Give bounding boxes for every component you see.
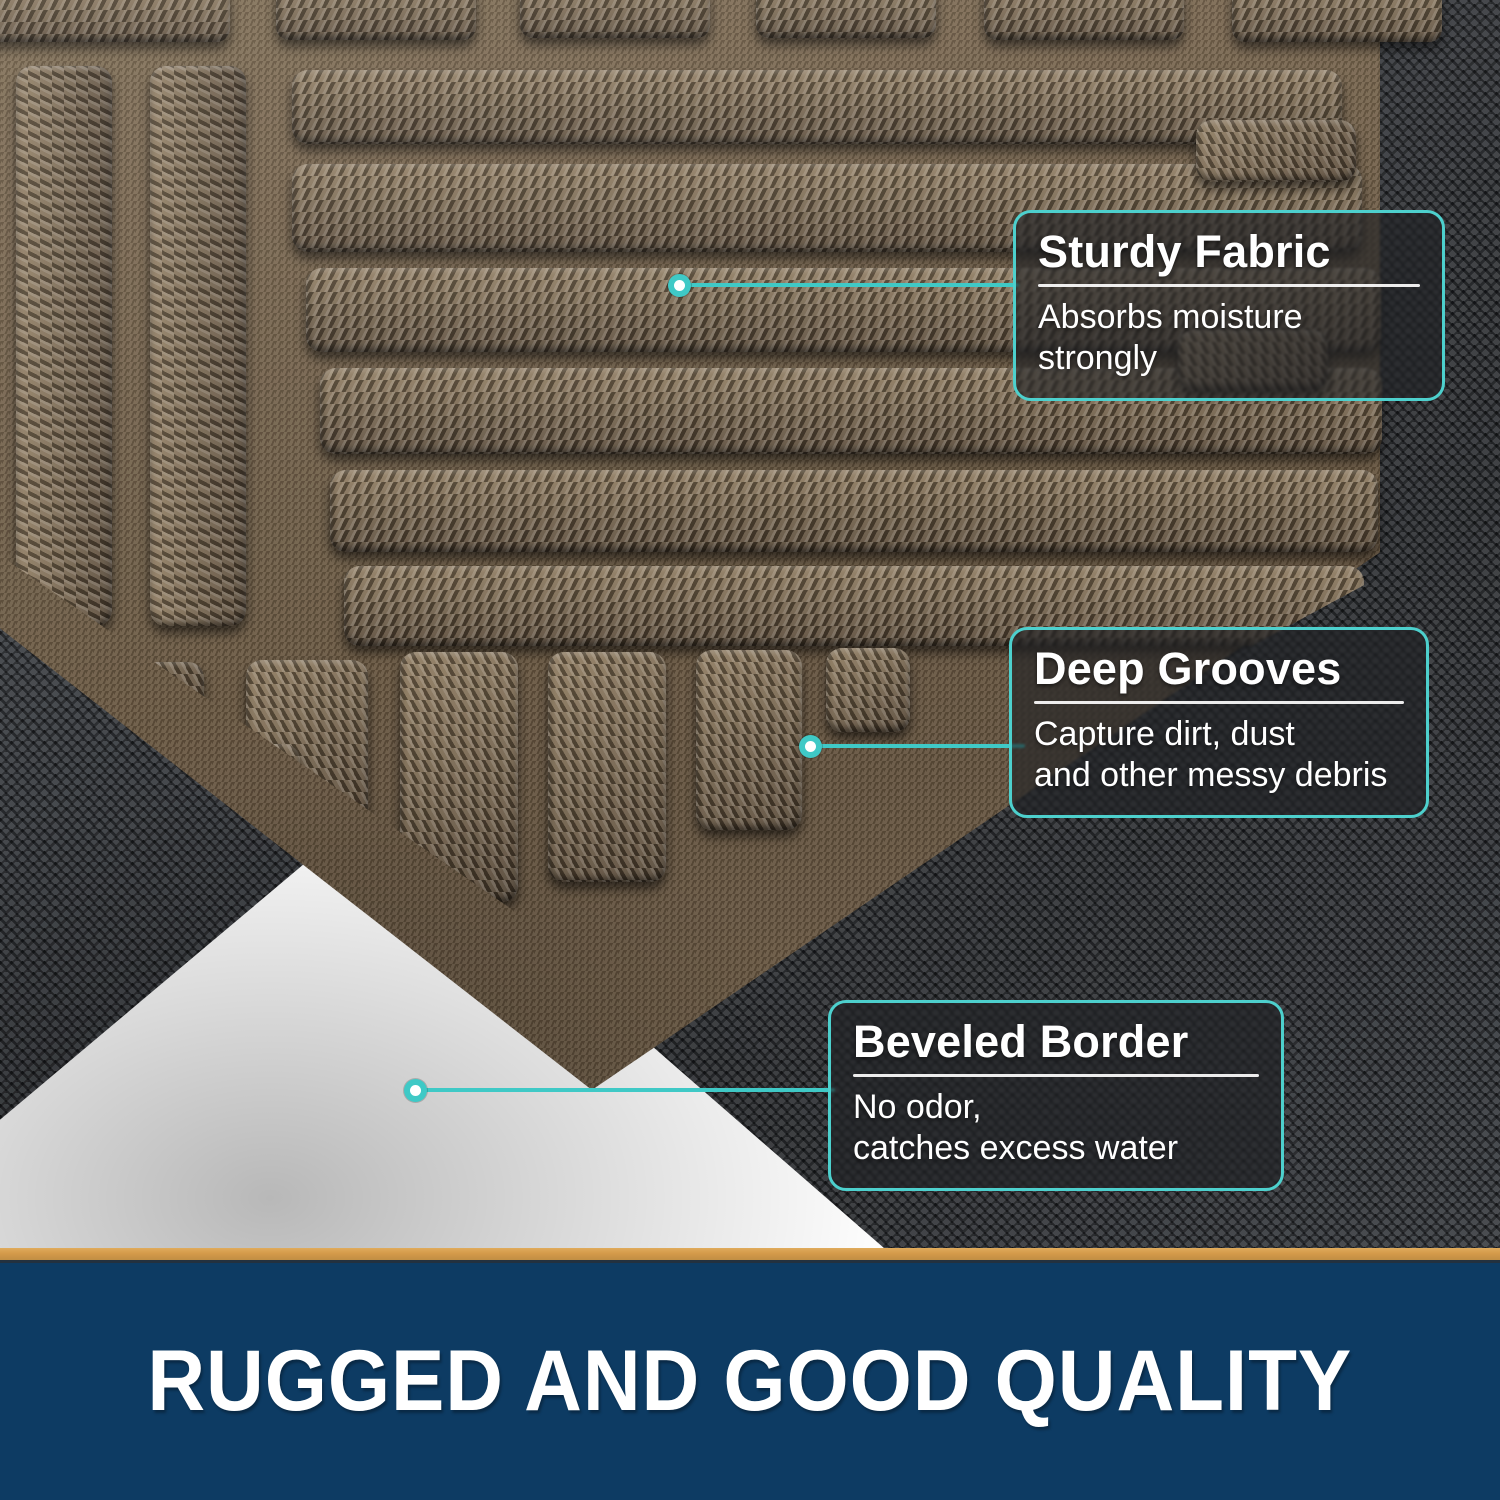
connector-line-sturdy-fabric: [679, 283, 1019, 287]
product-infographic: Sturdy Fabric Absorbs moisture strongly …: [0, 0, 1500, 1500]
callout-deep-grooves[interactable]: Deep Grooves Capture dirt, dust and othe…: [1009, 627, 1429, 818]
callout-title-deep-grooves: Deep Grooves: [1034, 646, 1404, 692]
callout-sturdy-fabric[interactable]: Sturdy Fabric Absorbs moisture strongly: [1013, 210, 1445, 401]
gold-accent-stripe: [0, 1248, 1500, 1260]
callout-beveled-border[interactable]: Beveled Border No odor, catches excess w…: [828, 1000, 1284, 1191]
callout-subtitle-deep-grooves: Capture dirt, dust and other messy debri…: [1034, 714, 1404, 797]
callout-title-sturdy-fabric: Sturdy Fabric: [1038, 229, 1420, 275]
bottom-banner: RUGGED AND GOOD QUALITY: [0, 1263, 1500, 1500]
callout-divider-sturdy-fabric: [1038, 284, 1420, 287]
connector-line-deep-grooves: [810, 744, 1025, 748]
connector-line-beveled-border: [415, 1088, 835, 1092]
product-photo: Sturdy Fabric Absorbs moisture strongly …: [0, 0, 1500, 1248]
callout-subtitle-sturdy-fabric: Absorbs moisture strongly: [1038, 297, 1420, 380]
callout-title-beveled-border: Beveled Border: [853, 1019, 1259, 1065]
callout-divider-deep-grooves: [1034, 701, 1404, 704]
connector-dot-beveled-border: [404, 1079, 427, 1102]
connector-dot-deep-grooves: [799, 735, 822, 758]
banner-headline: RUGGED AND GOOD QUALITY: [148, 1332, 1353, 1431]
connector-dot-sturdy-fabric: [668, 274, 691, 297]
callout-subtitle-beveled-border: No odor, catches excess water: [853, 1087, 1259, 1170]
callout-divider-beveled-border: [853, 1074, 1259, 1077]
